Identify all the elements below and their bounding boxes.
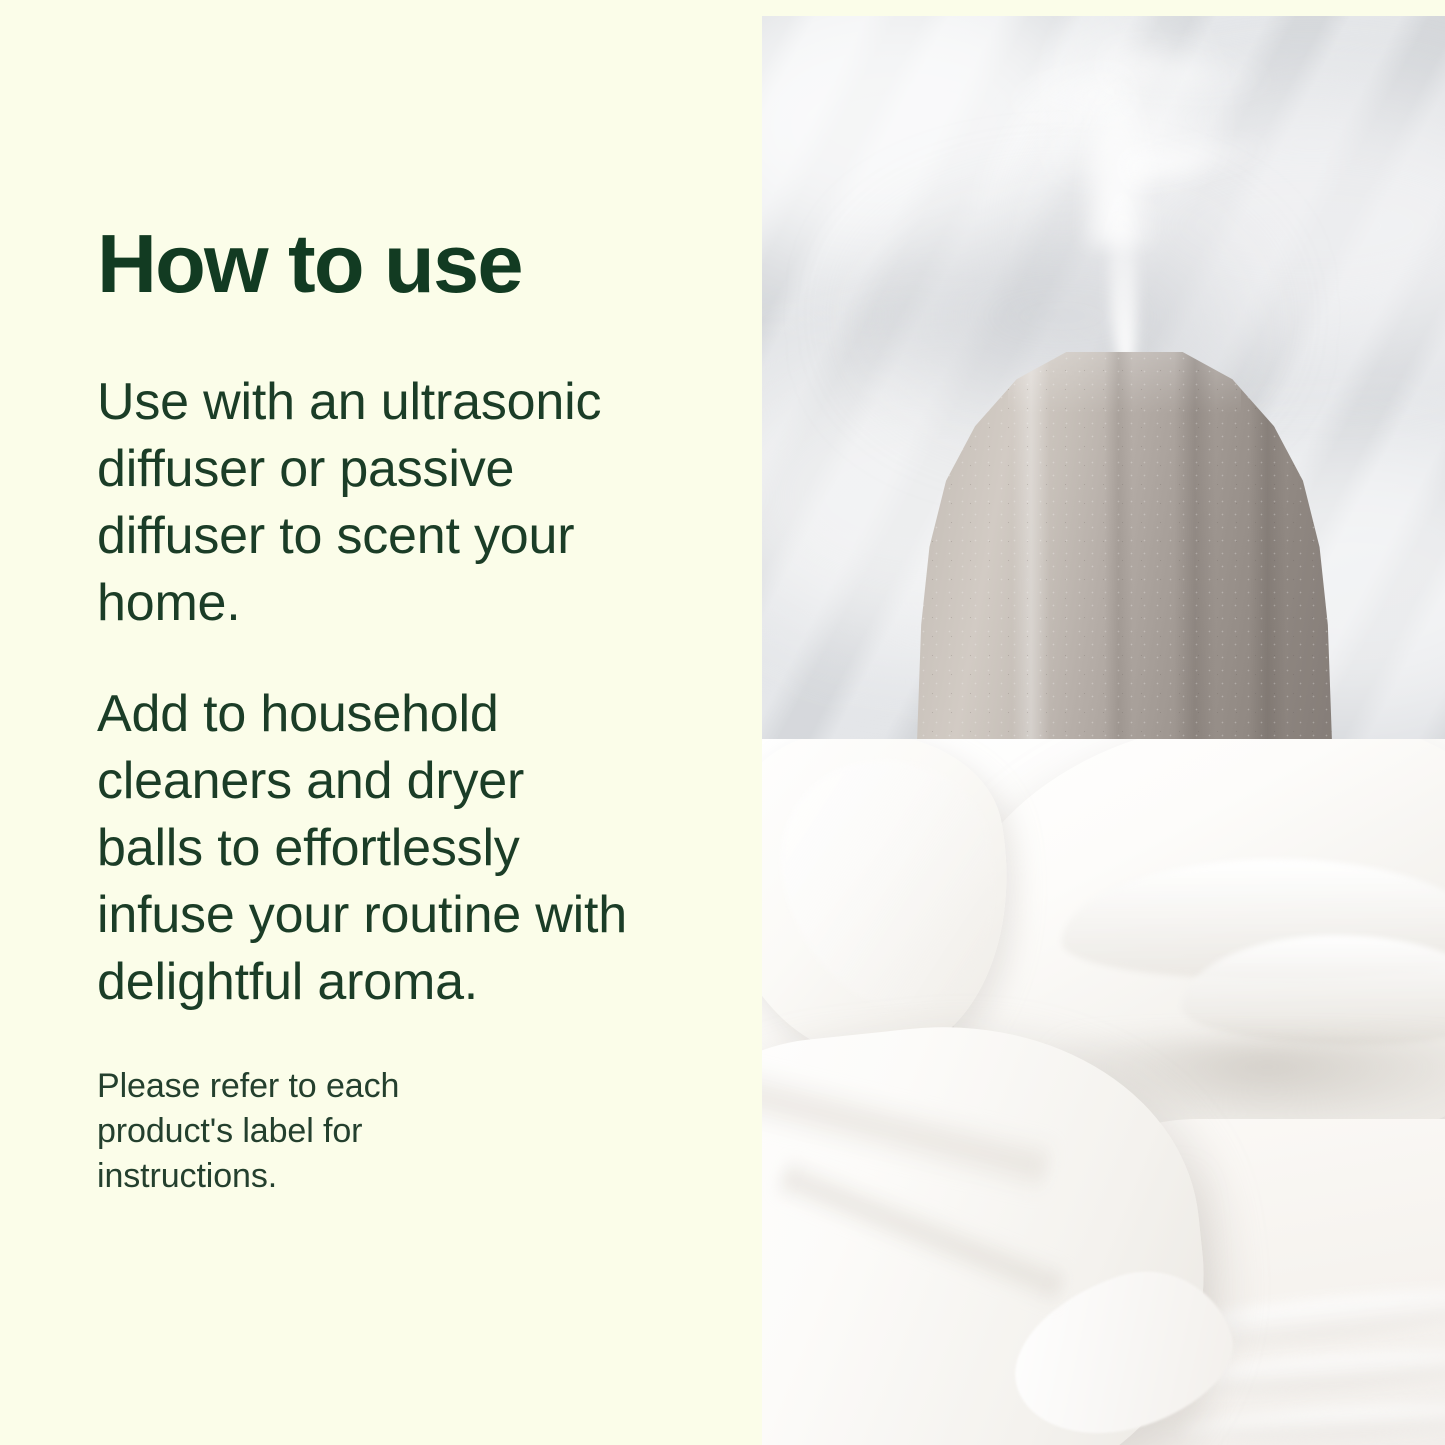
label-disclaimer-note: Please refer to each product's label for… [97, 1064, 497, 1199]
diffuser-body [917, 352, 1332, 739]
diffuser-facet-2 [1104, 352, 1133, 739]
sheet-shadow [1002, 1159, 1202, 1445]
duvet-flap-edge [762, 740, 1019, 1028]
sheet-wrinkle-3 [1181, 1398, 1445, 1445]
duvet-fold-lower [1182, 935, 1445, 1045]
bedding-photo [762, 739, 1445, 1445]
instruction-paragraph-2: Add to household cleaners and dryer ball… [97, 681, 642, 1016]
duvet-fold-upper [1062, 859, 1445, 979]
text-content-block: How to use Use with an ultrasonic diffus… [97, 222, 642, 1199]
product-info-card: How to use Use with an ultrasonic diffus… [0, 0, 1445, 1445]
mist-plume-middle [1084, 76, 1154, 246]
sheet-wrinkle-1 [1121, 1278, 1445, 1360]
mist-wisp-right [1119, 125, 1274, 192]
ceramic-diffuser-vessel [917, 352, 1332, 739]
diffuser-stone-texture [917, 352, 1332, 739]
mist-wisp-left [995, 61, 1131, 134]
instruction-paragraph-1: Use with an ultrasonic diffuser or passi… [97, 369, 642, 637]
pillow-crease-2 [774, 1154, 1069, 1309]
mist-plume-stem [1107, 186, 1139, 367]
duvet-mass [942, 739, 1445, 1149]
how-to-use-text-panel: How to use Use with an ultrasonic diffus… [0, 0, 722, 1445]
page-title: How to use [97, 222, 642, 305]
diffuser-facet-3 [1174, 352, 1216, 739]
diffuser-facet-4 [1249, 352, 1286, 739]
diffuser-top-chamfer [1008, 352, 1240, 414]
pillow [762, 1001, 1225, 1445]
backdrop-highlight-2 [1062, 96, 1445, 356]
product-image-column [722, 0, 1445, 1445]
flat-sheet [1062, 1119, 1445, 1445]
diffuser-photo [762, 16, 1445, 739]
backdrop-highlight-1 [762, 16, 1112, 276]
pillow-corner [994, 1249, 1250, 1445]
mist-plume-top [1038, 16, 1228, 176]
sheet-wrinkle-2 [1151, 1342, 1445, 1401]
diffuser-facet-1 [1012, 352, 1049, 739]
duvet-corner-flap [762, 739, 1038, 1082]
mist-wisp-upper [1104, 37, 1279, 110]
duvet-shadow [1042, 1039, 1445, 1129]
pillow-crease-1 [762, 1060, 1054, 1198]
